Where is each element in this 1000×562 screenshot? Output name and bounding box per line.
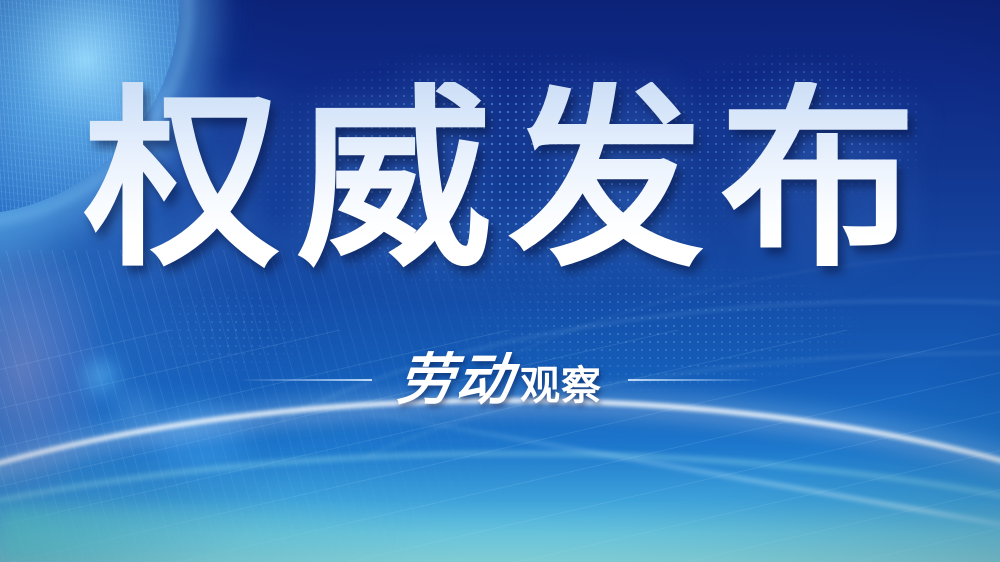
brand-name-brush: 劳动 (395, 352, 517, 408)
teal-horizon-glow (0, 508, 420, 562)
brand-name: 劳动 观察 (398, 352, 602, 408)
decorative-rule-right (628, 379, 760, 381)
authority-release-banner: 权威发布 劳动 观察 (0, 0, 1000, 562)
brand-name-bold: 观察 (520, 366, 602, 406)
decorative-rule-left (240, 379, 372, 381)
page-title: 权威发布 (68, 82, 932, 278)
brand-row: 劳动 观察 (0, 352, 1000, 408)
title-block: 权威发布 (0, 82, 1000, 278)
